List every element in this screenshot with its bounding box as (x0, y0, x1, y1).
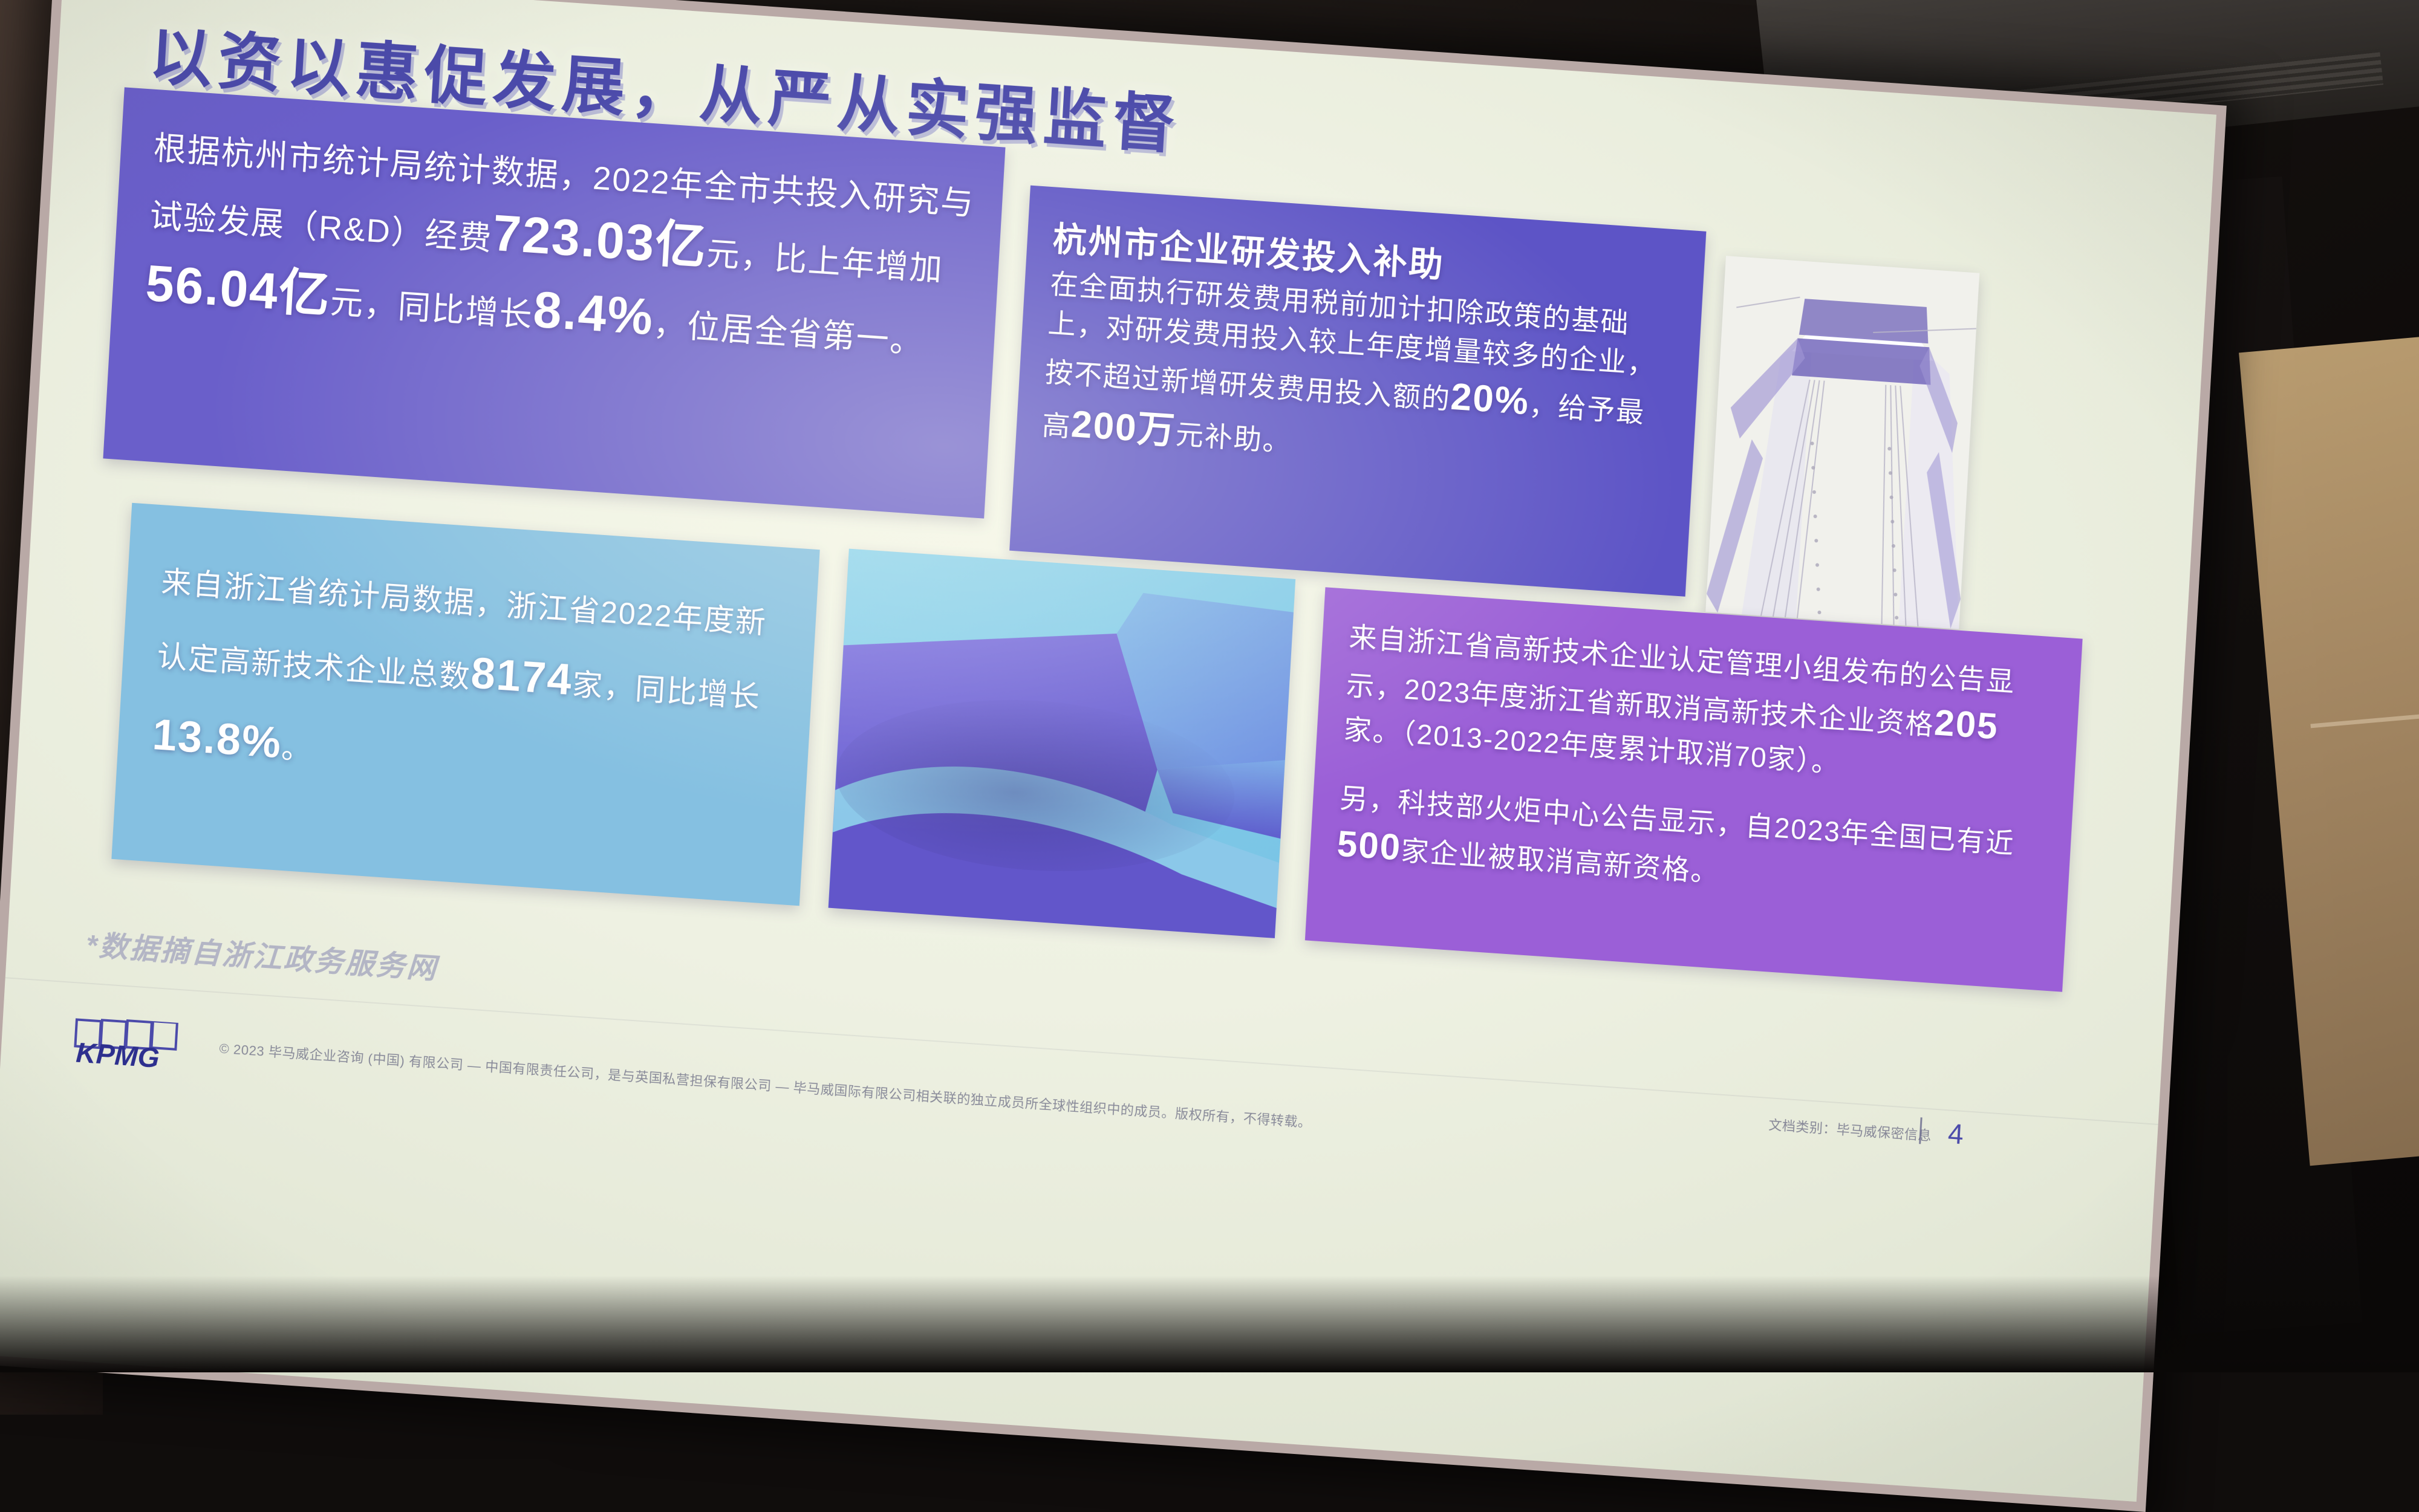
card1-stat-total: 723.03亿 (491, 204, 709, 275)
zhejiang-revoked-hightech-card: 来自浙江省高新技术企业认定管理小组发布的公告显示，2023年度浙江省新取消高新技… (1305, 587, 2083, 991)
card3-stat-growth: 13.8% (151, 710, 283, 767)
card1-seg4: 元，同比增长 (329, 284, 534, 334)
card3-stat-count: 8174 (470, 649, 574, 704)
bottom-shadow (0, 1276, 2419, 1372)
card2-stat-max: 200万 (1070, 403, 1177, 452)
card1-seg2: 元，比上年增加 (706, 235, 945, 288)
card2-text: 杭州市企业研发投入补助在全面执行研发费用税前加计扣除政策的基础上，对研发费用投入… (1041, 215, 1681, 492)
card2-seg4: 元补助。 (1175, 418, 1293, 458)
abstract-geometry-icon (829, 549, 1296, 938)
hangzhou-rd-spending-card: 根据杭州市统计局统计数据，2022年全市共投入研究与试验发展（R&D）经费723… (103, 87, 1005, 518)
card1-stat-increase: 56.04亿 (145, 255, 333, 324)
bridge-pylon-photo (1705, 256, 1979, 629)
card-grid: 根据杭州市统计局统计数据，2022年全市共投入研究与试验发展（R&D）经费723… (79, 87, 2109, 1007)
page-number: 4 (1947, 1117, 1965, 1150)
card4-p2-seg2: 家企业被取消高新资格。 (1400, 835, 1721, 888)
card4-paragraph-2: 另，科技部火炬中心公告显示，自2023年全国已有近500家企业被取消高新资格。 (1336, 778, 2050, 918)
card1-seg6: ，位居全省第一。 (653, 306, 925, 360)
document-classification: 文档类别：毕马威保密信息 (1768, 1114, 1932, 1144)
card4-stat-national: 500 (1336, 823, 1402, 868)
copyright-text: © 2023 毕马威企业咨询 (中国) 有限公司 — 中国有限责任公司，是与英国… (219, 1040, 1753, 1162)
card3-seg2: 家，同比增长 (571, 667, 762, 714)
svg-text:KPMG: KPMG (75, 1037, 160, 1074)
card4-text: 来自浙江省高新技术企业认定管理小组发布的公告显示，2023年度浙江省新取消高新技… (1336, 617, 2059, 918)
card3-text: 来自浙江省统计局数据，浙江省2022年度新认定高新技术企业总数8174家，同比增… (150, 553, 793, 819)
card4-stat-revoked: 205 (1933, 702, 2000, 747)
abstract-geometry-photo (829, 549, 1296, 938)
zhejiang-new-hightech-card: 来自浙江省统计局数据，浙江省2022年度新认定高新技术企业总数8174家，同比增… (111, 503, 819, 906)
bridge-pylon-icon (1705, 256, 1979, 629)
card1-text: 根据杭州市统计局统计数据，2022年全市共投入研究与试验发展（R&D）经费723… (144, 125, 977, 376)
source-note: *数据摘自浙江政务服务网 (85, 921, 438, 987)
hangzhou-rd-subsidy-card: 杭州市企业研发投入补助在全面执行研发费用税前加计扣除政策的基础上，对研发费用投入… (1009, 186, 1706, 597)
card2-stat-percent: 20% (1450, 376, 1531, 423)
kpmg-logo: KPMG (71, 1016, 186, 1075)
card1-stat-growth: 8.4% (532, 281, 655, 346)
card3-seg4: 。 (281, 730, 314, 766)
